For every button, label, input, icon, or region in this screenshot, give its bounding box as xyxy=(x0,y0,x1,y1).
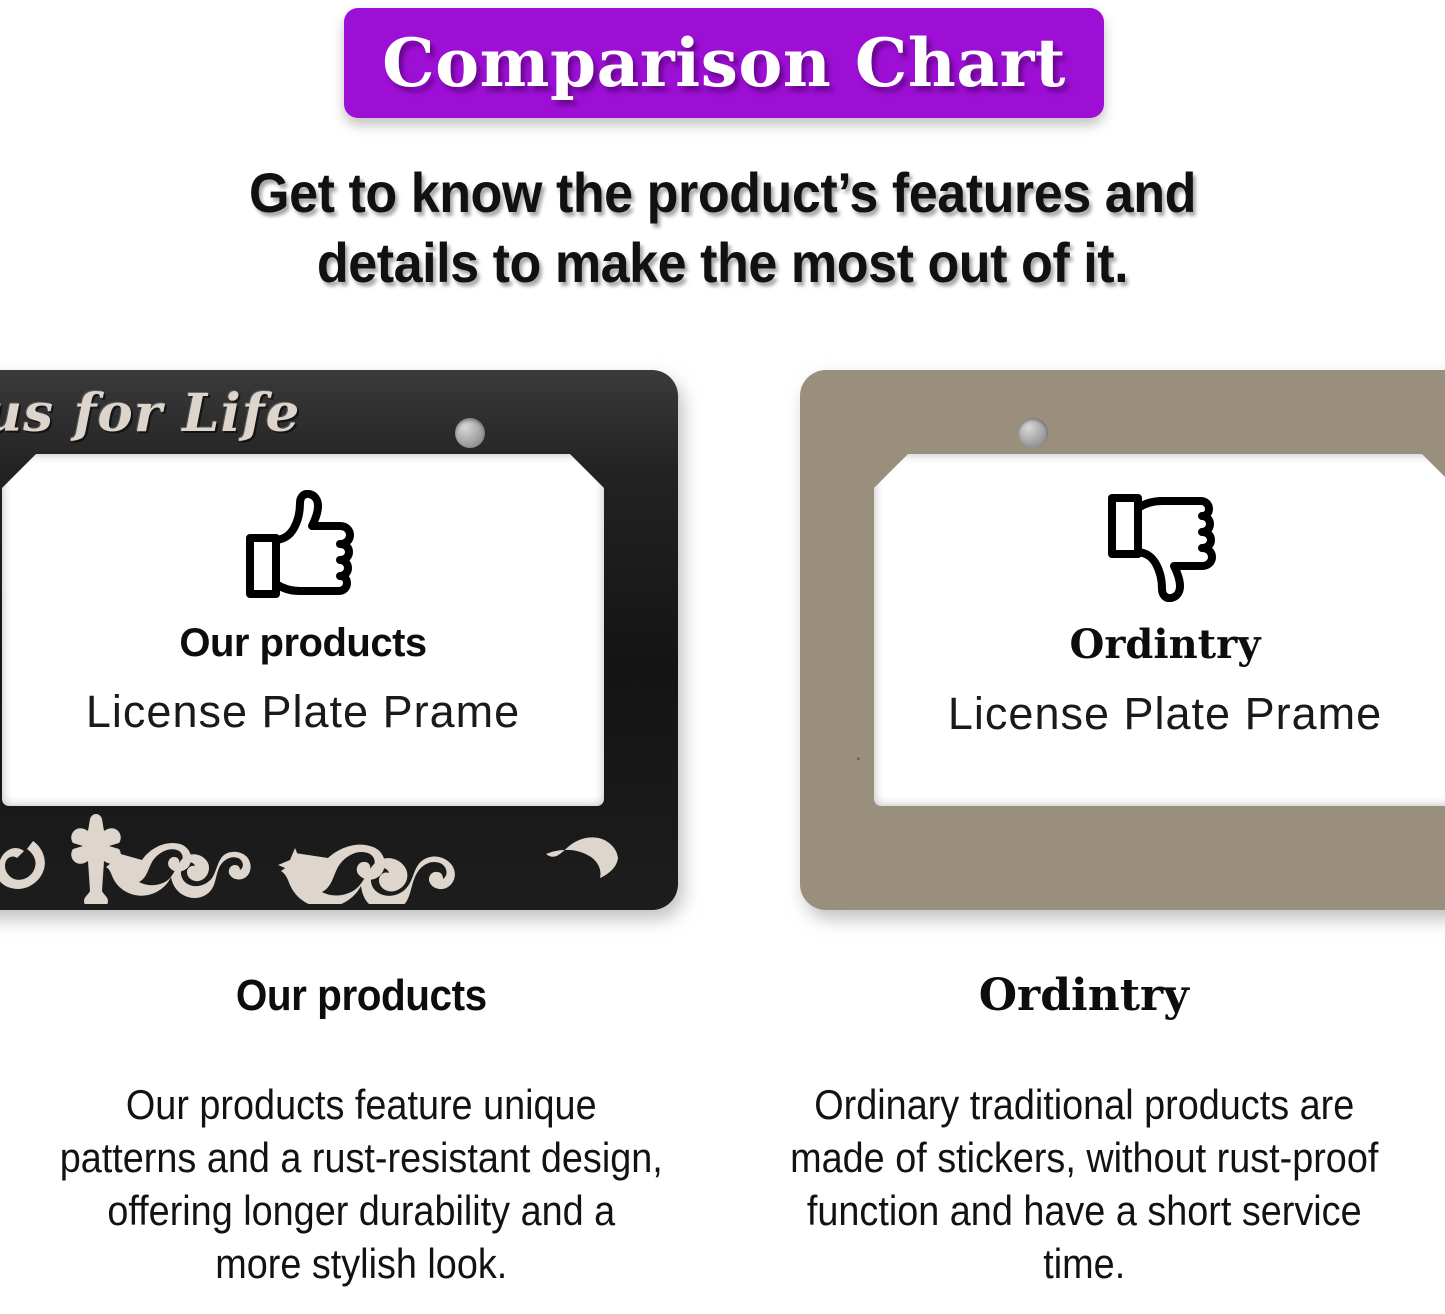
our-products-column: Our products Our products feature unique… xyxy=(0,970,723,1314)
mounting-hole-icon xyxy=(1018,418,1048,448)
ordintry-heading: Ordintry xyxy=(723,970,1445,1022)
frame-label-ordintry: Ordintry xyxy=(874,621,1445,668)
ordinary-product-window-content: Ordintry License Plate Prame xyxy=(874,490,1445,740)
product-frames-row: esus for Life xyxy=(0,352,1445,922)
mounting-hole-icon xyxy=(455,418,485,448)
our-products-description: Our products feature unique patterns and… xyxy=(36,1078,686,1290)
frame-engraved-slogan: esus for Life xyxy=(0,388,428,440)
frame-sublabel-left: License Plate Prame xyxy=(2,686,604,738)
comparison-description-row: Our products Our products feature unique… xyxy=(0,970,1445,1314)
our-product-window-content: Our products License Plate Prame xyxy=(2,490,604,738)
ordintry-description: Ordinary traditional products are made o… xyxy=(759,1078,1409,1290)
frame-sublabel-right: License Plate Prame xyxy=(874,688,1445,740)
thumbs-down-icon xyxy=(1106,490,1224,602)
page-subtitle: Get to know the product’s features and d… xyxy=(51,158,1395,298)
thumbs-up-icon xyxy=(244,490,362,602)
frame-label-our-products: Our products xyxy=(2,621,604,666)
page-title: Comparison Chart xyxy=(382,24,1066,102)
subtitle-line-1: Get to know the product’s features and xyxy=(51,158,1395,228)
our-products-heading: Our products xyxy=(29,970,694,1022)
our-product-frame-image: esus for Life xyxy=(0,370,678,910)
ordinary-product-frame-image: Ordintry License Plate Prame xyxy=(800,370,1445,910)
subtitle-line-2: details to make the most out of it. xyxy=(51,228,1395,298)
comparison-chart-banner: Comparison Chart xyxy=(344,8,1104,118)
ordintry-column: Ordintry Ordinary traditional products a… xyxy=(723,970,1445,1314)
